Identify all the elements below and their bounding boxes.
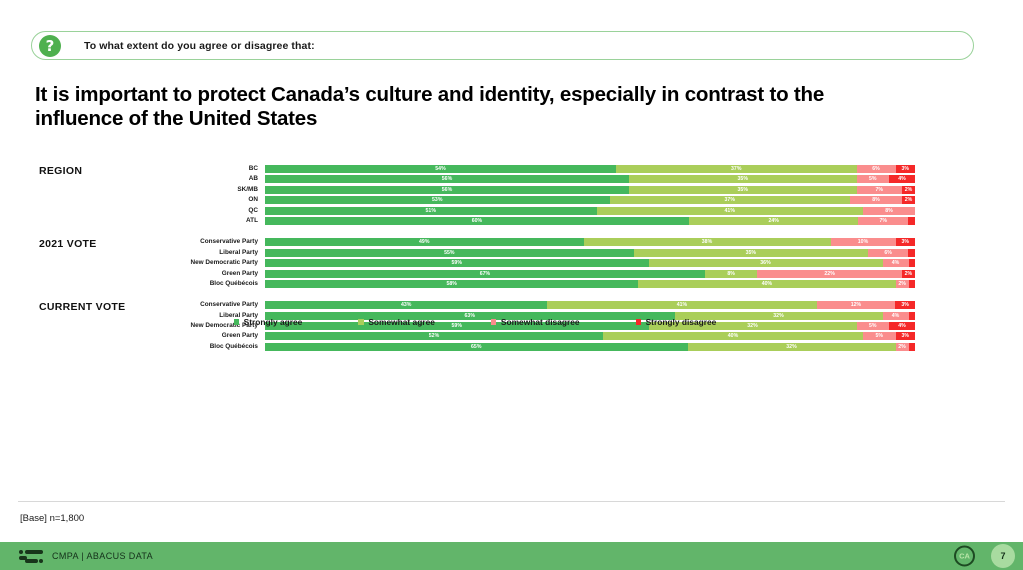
chart-bar-segment: 8%	[863, 207, 915, 215]
chart-bar-segment: 56%	[265, 186, 629, 194]
chart-bar-segment: 67%	[265, 270, 705, 278]
chart-bar-segment: 55%	[265, 249, 634, 257]
chart-bar-row: Liberal Party55%35%6%	[35, 249, 915, 257]
chart-bar-segment: 43%	[265, 301, 547, 309]
chart-bar-segment: 6%	[868, 249, 908, 257]
chart-bar-track: 59%36%4%	[265, 259, 915, 267]
chart-bar-segment: 36%	[649, 259, 883, 267]
chart-bar-segment: 3%	[896, 332, 916, 340]
page-number-badge: 7	[991, 544, 1015, 568]
ca-badge-icon: CA	[954, 546, 975, 567]
chart-bar-row: QC51%41%8%	[35, 207, 915, 215]
chart-bar-segment: 40%	[603, 332, 863, 340]
legend-item: Somewhat agree	[358, 317, 435, 327]
chart-bar-segment: 35%	[629, 175, 857, 183]
chart-bar-segment: 40%	[638, 280, 895, 288]
page-title: It is important to protect Canada’s cult…	[35, 83, 915, 130]
chart-bar-track: 55%35%6%	[265, 249, 915, 257]
chart-bar-segment	[908, 249, 915, 257]
chart-row-label: ATL	[35, 217, 265, 225]
chart-group-title: CURRENT VOTE	[39, 301, 125, 313]
chart-bar-track: 53%37%8%2%	[265, 196, 915, 204]
legend-swatch-icon	[491, 319, 497, 325]
chart-row-label: Bloc Québécois	[35, 343, 265, 351]
chart-bar-row: ATL60%24%7%	[35, 217, 915, 225]
chart-bar-segment: 10%	[831, 238, 896, 246]
chart-row-label: Bloc Québécois	[35, 280, 265, 288]
chart-bar-segment: 3%	[895, 301, 915, 309]
chart-bar-segment: 24%	[689, 217, 859, 225]
legend-swatch-icon	[234, 319, 240, 325]
chart-bar-track: 65%32%2%	[265, 343, 915, 351]
chart-bar-segment: 41%	[597, 207, 864, 215]
chart-bar-row: Green Party67%8%22%2%	[35, 270, 915, 278]
legend-label: Somewhat agree	[368, 317, 435, 327]
chart-bar-segment: 41%	[547, 301, 816, 309]
chart-bar-track: 56%35%7%2%	[265, 186, 915, 194]
legend-item: Somewhat disagree	[491, 317, 580, 327]
chart-legend: Strongly agreeSomewhat agreeSomewhat dis…	[35, 317, 915, 327]
chart-bar-segment: 49%	[265, 238, 584, 246]
legend-item: Strongly agree	[234, 317, 303, 327]
chart-bar-segment	[909, 280, 915, 288]
chart-bar-segment: 51%	[265, 207, 597, 215]
chart-bar-track: 67%8%22%2%	[265, 270, 915, 278]
chart-bar-row: Conservative Party43%41%12%3%	[35, 301, 915, 309]
chart-bar-segment: 38%	[584, 238, 831, 246]
chart-bar-segment	[909, 343, 916, 351]
chart-group: 2021 VOTEConservative Party49%38%10%3%Li…	[35, 238, 915, 288]
chart-bar-segment: 2%	[896, 280, 909, 288]
chart-bar-segment: 8%	[850, 196, 902, 204]
chart-group: REGIONBC54%37%6%3%AB56%35%5%4%SK/MB56%35…	[35, 165, 915, 225]
chart-group-gap	[35, 227, 915, 238]
chart-bar-segment: 37%	[616, 165, 857, 173]
chart-bar-segment: 4%	[889, 175, 915, 183]
chart-bar-segment: 4%	[883, 259, 909, 267]
chart-bar-segment: 2%	[896, 343, 909, 351]
chart-bar-segment: 52%	[265, 332, 603, 340]
chart-group-title: REGION	[39, 165, 82, 177]
legend-label: Strongly agree	[244, 317, 303, 327]
chart-bar-segment: 59%	[265, 259, 649, 267]
chart-bar-segment: 35%	[634, 249, 869, 257]
chart-bar-segment: 54%	[265, 165, 616, 173]
chart-bar-row: SK/MB56%35%7%2%	[35, 186, 915, 194]
question-mark-icon: ?	[39, 35, 61, 57]
chart-bar-segment: 53%	[265, 196, 610, 204]
legend-label: Strongly disagree	[646, 317, 717, 327]
chart-bar-track: 58%40%2%	[265, 280, 915, 288]
divider	[18, 501, 1005, 502]
chart-row-label: Green Party	[35, 332, 265, 340]
chart-bar-segment: 60%	[265, 217, 689, 225]
chart-row-label: ON	[35, 196, 265, 204]
chart-bar-row: Bloc Québécois65%32%2%	[35, 343, 915, 351]
chart-bar-track: 56%35%5%4%	[265, 175, 915, 183]
chart-group-title: 2021 VOTE	[39, 238, 97, 250]
chart-bar-segment: 5%	[857, 175, 890, 183]
chart-bar-segment: 7%	[858, 217, 907, 225]
chart-bar-track: 54%37%6%3%	[265, 165, 915, 173]
chart-bar-segment: 3%	[896, 165, 916, 173]
chart-bar-track: 49%38%10%3%	[265, 238, 915, 246]
chart-bar-segment: 22%	[757, 270, 901, 278]
chart-bar-segment	[908, 217, 915, 225]
chart-bar-segment: 6%	[857, 165, 896, 173]
legend-item: Strongly disagree	[636, 317, 717, 327]
base-note: [Base] n=1,800	[20, 513, 84, 524]
chart-group-gap	[35, 290, 915, 301]
chart-bar-segment: 35%	[629, 186, 857, 194]
chart-bar-segment	[909, 259, 916, 267]
question-text: To what extent do you agree or disagree …	[84, 40, 315, 52]
chart-bar-segment: 2%	[902, 196, 915, 204]
footer-text: CMPA | ABACUS DATA	[52, 551, 153, 561]
chart-bar-track: 60%24%7%	[265, 217, 915, 225]
chart-row-label: SK/MB	[35, 186, 265, 194]
chart-bar-row: BC54%37%6%3%	[35, 165, 915, 173]
chart-bar-segment: 7%	[857, 186, 903, 194]
legend-label: Somewhat disagree	[501, 317, 580, 327]
question-banner: ? To what extent do you agree or disagre…	[31, 31, 974, 60]
chart-bar-segment: 2%	[902, 270, 915, 278]
chart-bar-row: Bloc Québécois58%40%2%	[35, 280, 915, 288]
chart-bar-segment: 58%	[265, 280, 638, 288]
footer-bar: CMPA | ABACUS DATA CA 7	[0, 542, 1023, 570]
chart-row-label: New Democratic Party	[35, 259, 265, 267]
cmpa-logo-icon	[19, 550, 43, 563]
legend-swatch-icon	[358, 319, 364, 325]
chart-row-label: Green Party	[35, 270, 265, 278]
chart-bar-segment: 2%	[902, 186, 915, 194]
chart-bar-row: Conservative Party49%38%10%3%	[35, 238, 915, 246]
chart-bar-segment: 32%	[688, 343, 896, 351]
chart-bar-row: Green Party52%40%5%3%	[35, 332, 915, 340]
chart-bar-segment: 12%	[817, 301, 896, 309]
chart-bar-segment: 3%	[896, 238, 916, 246]
chart-bar-segment: 37%	[610, 196, 851, 204]
chart-bar-row: ON53%37%8%2%	[35, 196, 915, 204]
chart-bar-track: 51%41%8%	[265, 207, 915, 215]
chart-bar-row: New Democratic Party59%36%4%	[35, 259, 915, 267]
chart-bar-segment: 8%	[705, 270, 758, 278]
chart-bar-row: AB56%35%5%4%	[35, 175, 915, 183]
legend-swatch-icon	[636, 319, 642, 325]
chart-bar-track: 43%41%12%3%	[265, 301, 915, 309]
chart-bar-segment: 65%	[265, 343, 688, 351]
chart-bar-segment: 56%	[265, 175, 629, 183]
chart-bar-track: 52%40%5%3%	[265, 332, 915, 340]
chart-row-label: QC	[35, 207, 265, 215]
chart-bar-segment: 5%	[863, 332, 896, 340]
